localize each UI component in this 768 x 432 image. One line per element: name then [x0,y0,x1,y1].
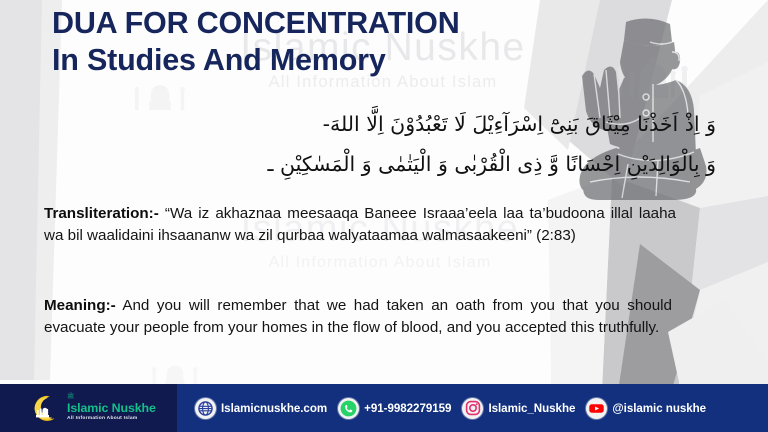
youtube-icon [586,398,607,419]
brand-logo-text: ﷺ Islamic Nuskhe All Information About I… [67,394,156,422]
meaning-label: Meaning:- [44,297,116,314]
brand-name: Islamic Nuskhe [67,402,156,414]
title-line-2: In Studies And Memory [52,43,712,77]
arabic-verse: وَ اِذْ اَخَذْنَا مِيْثَاقَ بَنِىْٓ اِسْ… [0,108,742,181]
contact-youtube[interactable]: @islamic nuskhe [586,398,706,419]
arabic-line-2: وَ بِالْوَالِدَيْنِ اِحْسَانًا وَّ ذِى ا… [0,148,742,180]
instagram-icon [462,398,483,419]
contact-whatsapp[interactable]: +91-9982279159 [338,398,451,419]
contact-website[interactable]: Islamicnuskhe.com [195,398,327,419]
brand-tagline: All Information About Islam [67,417,156,422]
whatsapp-icon [338,398,359,419]
footer-contacts: Islamicnuskhe.com +91-9982279159 [177,384,768,432]
arabic-mark: ﷺ [67,394,156,401]
poster-canvas: Islamic Nuskhe All Information About Isl… [0,0,768,432]
transliteration-block: Transliteration:- “Wa iz akhaznaa meesaa… [44,203,676,246]
brand-logo[interactable]: ﷺ Islamic Nuskhe All Information About I… [28,392,156,425]
crescent-moon-mosque-icon [28,392,61,425]
page-title: DUA FOR CONCENTRATION In Studies And Mem… [52,6,712,77]
title-line-1: DUA FOR CONCENTRATION [52,6,712,40]
arabic-line-1: وَ اِذْ اَخَذْنَا مِيْثَاقَ بَنِىْٓ اِسْ… [0,108,742,140]
footer-bar: ﷺ Islamic Nuskhe All Information About I… [0,384,768,432]
contact-label: +91-9982279159 [364,402,451,415]
globe-icon [195,398,216,419]
contact-label: Islamicnuskhe.com [221,402,327,415]
contact-label: @islamic nuskhe [612,402,706,415]
meaning-block: Meaning:- And you will remember that we … [44,295,672,338]
contact-instagram[interactable]: Islamic_Nuskhe [462,398,575,419]
contact-label: Islamic_Nuskhe [488,402,575,415]
meaning-text: And you will remember that we had taken … [44,297,672,336]
footer-logo-area: ﷺ Islamic Nuskhe All Information About I… [0,384,177,432]
transliteration-label: Transliteration:- [44,205,159,222]
